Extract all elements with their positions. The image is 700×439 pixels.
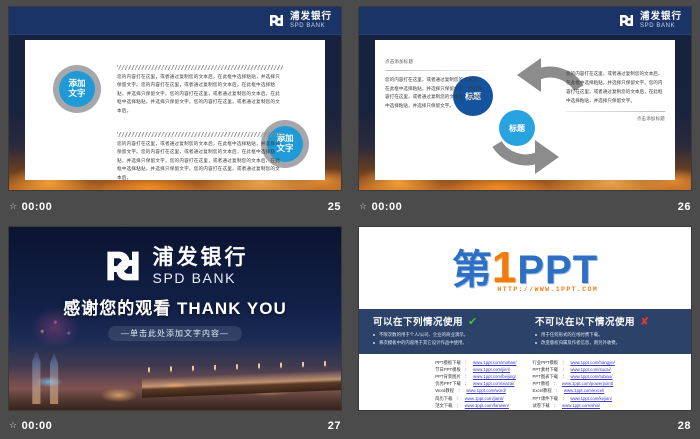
link-url[interactable]: www.1ppt.com/sucai/ xyxy=(570,367,610,374)
subtitle-placeholder[interactable]: —单击此处添加文字内容— xyxy=(108,326,242,341)
list-item[interactable]: Word教程：www.1ppt.com/word/ xyxy=(435,388,516,395)
link-label: PPT背景图片 xyxy=(435,374,461,381)
colon: ： xyxy=(554,410,558,411)
thank-you-slide: 浦发银行 SPD BANK 感谢您的观看 THANK YOU —单击此处添加文字… xyxy=(9,227,341,410)
right-text-column[interactable]: 您的内容打在这里，或者通过复制您的文本后，在此框中选择粘贴，并选择只保留文字。您… xyxy=(566,70,665,123)
slide-header-bar: 浦发银行 SPD BANK xyxy=(359,7,691,35)
colon: ： xyxy=(465,367,469,374)
slide-status-bar-25: ☆ 00:00 25 xyxy=(0,193,350,220)
list-item[interactable]: PPT背景图片：www.1ppt.com/beijing/ xyxy=(435,374,516,381)
slide-number: 28 xyxy=(678,420,691,432)
cycle-circle-light-label: 标题 xyxy=(509,123,525,134)
hatch-divider-top xyxy=(117,65,283,70)
colon: ： xyxy=(456,410,460,411)
star-icon: ☆ xyxy=(9,202,18,211)
slide-status-bar-28: 28 xyxy=(350,412,700,439)
link-url[interactable]: www.1ppt.com/word/ xyxy=(466,388,506,395)
status-left: ☆ 00:00 xyxy=(9,420,52,432)
link-label: PPT模板下载 xyxy=(435,360,461,367)
link-label: 行业PPT模板 xyxy=(533,360,559,367)
link-url[interactable]: www.1ppt.com/fanwen/ xyxy=(465,403,509,410)
colon: ： xyxy=(456,396,460,403)
star-icon: ☆ xyxy=(9,421,18,430)
slide-cell-26[interactable]: 浦发银行 SPD BANK 标题 标题 xyxy=(350,0,700,220)
colon: ： xyxy=(562,367,566,374)
slide-status-bar-26: ☆ 00:00 26 xyxy=(350,193,700,220)
caption-bottom: 点击添加标题 xyxy=(566,115,665,124)
colon: ： xyxy=(562,360,566,367)
divider-top xyxy=(385,70,484,71)
forbidden-list: 用于任何形式的在线付费下载。 改变版权归属及作者信息，则另外收费。 xyxy=(535,331,677,348)
colon: ： xyxy=(458,388,462,395)
list-item[interactable]: PPT教程：www.1ppt.com/powerpoint/ xyxy=(533,381,615,388)
spd-logo-icon xyxy=(268,13,285,28)
brand-name-en: SPD BANK xyxy=(153,271,237,285)
link-url[interactable]: www.1ppt.com/jiaoan/ xyxy=(465,410,507,411)
colon: ： xyxy=(562,396,566,403)
slide-cell-28[interactable]: 第 1 PPT HTTP://WWW.1PPT.COM 可以在下列情况使用 ✔ … xyxy=(350,220,700,439)
spd-bank-logo-large: 浦发银行 SPD BANK xyxy=(9,247,341,285)
star-icon: ☆ xyxy=(359,202,368,211)
forbidden-usage-block: 不可以在以下情况使用 ✘ 用于任何形式的在线付费下载。 改变版权归属及作者信息，… xyxy=(535,314,677,348)
colon: ： xyxy=(562,374,566,381)
thank-you-content: 浦发银行 SPD BANK 感谢您的观看 THANK YOU —单击此处添加文字… xyxy=(9,247,341,341)
slide-28[interactable]: 第 1 PPT HTTP://WWW.1PPT.COM 可以在下列情况使用 ✔ … xyxy=(358,226,692,411)
logo-url: HTTP://WWW.1PPT.COM xyxy=(497,286,598,293)
list-item[interactable]: 教案下载：www.1ppt.com/jiaoan/ xyxy=(435,410,516,411)
link-url[interactable]: www.1ppt.com/ziti/ xyxy=(562,410,598,411)
list-item[interactable]: 范文下载：www.1ppt.com/fanwen/ xyxy=(435,403,516,410)
slide-thumbnail-grid: 浦发银行 SPD BANK 添加 文字 添加 文字 xyxy=(0,0,700,439)
colon: ： xyxy=(556,388,560,395)
link-label: 范文下载 xyxy=(435,403,452,410)
link-url[interactable]: www.1ppt.com/xiazai/ xyxy=(473,381,514,388)
allowed-title: 可以在下列情况使用 xyxy=(373,314,463,328)
list-item: 用于任何形式的在线付费下载。 xyxy=(535,331,677,339)
paragraph-b: 您的内容打在这里，或者通过复制您的文本后，在此框中选择粘贴，并选择只保留文字。您… xyxy=(117,140,283,182)
slide-status-bar-27: ☆ 00:00 27 xyxy=(0,412,350,439)
logo-char-ppt: PPT xyxy=(517,250,598,290)
slide-canvas: 标题 标题 点击添加标题 您的内容打在这里，或者通过复制您的文本后，在此框中选择… xyxy=(375,40,675,180)
slide-25[interactable]: 浦发银行 SPD BANK 添加 文字 添加 文字 xyxy=(8,6,342,191)
allowed-title-row: 可以在下列情况使用 ✔ xyxy=(373,314,515,328)
list-item[interactable]: PPT图表下载：www.1ppt.com/tubiao/ xyxy=(533,374,615,381)
status-left: ☆ 00:00 xyxy=(359,201,402,213)
text-block-b[interactable]: 您的内容打在这里，或者通过复制您的文本后，在此框中选择粘贴，并选择只保留文字。您… xyxy=(117,132,283,182)
list-item: 将次模板中的内容用于其它设计作品中使用。 xyxy=(373,339,515,347)
link-column-right: 行业PPT模板：www.1ppt.com/hangye/ PPT素材下载：www… xyxy=(533,360,615,411)
slide-number: 25 xyxy=(328,201,341,213)
link-url[interactable]: www.1ppt.com/shiti/ xyxy=(562,403,600,410)
list-item: 不限次数的用于个人/公司、企业的商业演示。 xyxy=(373,331,515,339)
spd-logo-text: 浦发银行 SPD BANK xyxy=(153,247,249,285)
link-label: 简历下载 xyxy=(435,396,452,403)
ppt-credits-slide: 第 1 PPT HTTP://WWW.1PPT.COM 可以在下列情况使用 ✔ … xyxy=(359,227,691,410)
link-url[interactable]: www.1ppt.com/powerpoint/ xyxy=(562,381,613,388)
slide-number: 26 xyxy=(678,201,691,213)
list-item[interactable]: 节日PPT模板：www.1ppt.com/jieri/ xyxy=(435,367,516,374)
colon: ： xyxy=(465,374,469,381)
paragraph-a: 您的内容打在这里，或者通过复制您的文本后，在此框中选择粘贴，并选择只保留文字。您… xyxy=(117,73,283,115)
link-url[interactable]: www.1ppt.com/beijing/ xyxy=(473,374,516,381)
logo-char-one: 1 xyxy=(492,246,516,290)
left-text-column[interactable]: 点击添加标题 您的内容打在这里，或者通过复制您的文本后，在此框中选择粘贴，并选择… xyxy=(385,58,484,111)
slide-26[interactable]: 浦发银行 SPD BANK 标题 标题 xyxy=(358,6,692,191)
list-item[interactable]: 字体下载：www.1ppt.com/ziti/ xyxy=(533,410,615,411)
link-label: PPT教程 xyxy=(533,381,550,388)
slide-27[interactable]: 浦发银行 SPD BANK 感谢您的观看 THANK YOU —单击此处添加文字… xyxy=(8,226,342,411)
slide-cell-25[interactable]: 浦发银行 SPD BANK 添加 文字 添加 文字 xyxy=(0,0,350,220)
colon: ： xyxy=(465,360,469,367)
link-label: 优秀PPT下载 xyxy=(435,381,461,388)
left-body-text: 您的内容打在这里，或者通过复制您的文本后，在此框中选择粘贴，并选择只保留文字。您… xyxy=(385,76,484,112)
link-url[interactable]: www.1ppt.com/excel/ xyxy=(564,388,604,395)
link-label: Word教程 xyxy=(435,388,454,395)
list-item[interactable]: 行业PPT模板：www.1ppt.com/hangye/ xyxy=(533,360,615,367)
slide-duration: 00:00 xyxy=(22,201,53,213)
link-label: Excel教程 xyxy=(533,388,552,395)
link-url[interactable]: www.1ppt.com/moban/ xyxy=(473,360,516,367)
colon: ： xyxy=(465,381,469,388)
allowed-list: 不限次数的用于个人/公司、企业的商业演示。 将次模板中的内容用于其它设计作品中使… xyxy=(373,331,515,348)
hatch-divider-bottom xyxy=(117,132,283,137)
brand-name-en: SPD BANK xyxy=(290,23,332,29)
spd-bank-logo: 浦发银行 SPD BANK xyxy=(618,12,682,29)
colon: ： xyxy=(456,403,460,410)
add-text-left-line2: 文字 xyxy=(68,89,85,99)
link-url[interactable]: www.1ppt.com/tubiao/ xyxy=(570,374,612,381)
slide-duration: 00:00 xyxy=(372,201,403,213)
spd-logo-icon xyxy=(618,13,635,28)
check-icon: ✔ xyxy=(468,315,478,328)
list-item[interactable]: 简历下载：www.1ppt.com/jianli/ xyxy=(435,396,516,403)
first-ppt-logo-wrap: 第 1 PPT HTTP://WWW.1PPT.COM xyxy=(452,246,598,290)
list-item[interactable]: PPT素材下载：www.1ppt.com/sucai/ xyxy=(533,367,615,374)
slide-header-bar: 浦发银行 SPD BANK xyxy=(9,7,341,35)
spd-logo-icon xyxy=(102,248,144,284)
right-body-text: 您的内容打在这里，或者通过复制您的文本后，在此框中选择粘贴，并选择只保留文字。您… xyxy=(566,70,665,106)
link-label: PPT课件下载 xyxy=(533,396,559,403)
spd-logo-text: 浦发银行 SPD BANK xyxy=(640,12,682,29)
slide-cell-27[interactable]: 浦发银行 SPD BANK 感谢您的观看 THANK YOU —单击此处添加文字… xyxy=(0,220,350,439)
colon: ： xyxy=(554,403,558,410)
list-item[interactable]: PPT课件下载：www.1ppt.com/kejian/ xyxy=(533,396,615,403)
brand-name-en: SPD BANK xyxy=(640,23,682,29)
slide-canvas: 添加 文字 添加 文字 您的内容打在这里，或者通过复制您的文本后，在此框中选择粘… xyxy=(25,40,325,180)
brand-name-cn: 浦发银行 xyxy=(290,12,332,22)
allowed-usage-block: 可以在下列情况使用 ✔ 不限次数的用于个人/公司、企业的商业演示。 将次模板中的… xyxy=(373,314,515,348)
colon: ： xyxy=(553,381,557,388)
spd-logo-text: 浦发银行 SPD BANK xyxy=(290,12,332,29)
forbidden-title: 不可以在以下情况使用 xyxy=(535,314,635,328)
link-label: PPT素材下载 xyxy=(533,367,559,374)
cross-icon: ✘ xyxy=(640,315,650,328)
link-url[interactable]: www.1ppt.com/jieri/ xyxy=(473,367,510,374)
list-item[interactable]: PPT模板下载：www.1ppt.com/moban/ xyxy=(435,360,516,367)
spd-bank-logo: 浦发银行 SPD BANK xyxy=(268,12,332,29)
link-url[interactable]: www.1ppt.com/jianli/ xyxy=(465,396,504,403)
cycle-circle-light[interactable]: 标题 xyxy=(499,110,535,146)
usage-terms-band: 可以在下列情况使用 ✔ 不限次数的用于个人/公司、企业的商业演示。 将次模板中的… xyxy=(359,309,691,354)
link-label: 试卷下载 xyxy=(533,403,550,410)
link-label: PPT图表下载 xyxy=(533,374,559,381)
divider-bottom xyxy=(566,111,665,112)
text-block-a[interactable]: 您的内容打在这里，或者通过复制您的文本后，在此框中选择粘贴，并选择只保留文字。您… xyxy=(117,65,283,115)
add-text-circle-left[interactable]: 添加 文字 xyxy=(53,65,101,113)
thank-you-heading: 感谢您的观看 THANK YOU xyxy=(9,294,341,319)
list-item[interactable]: 优秀PPT下载：www.1ppt.com/xiazai/ xyxy=(435,381,516,388)
caption-top: 点击添加标题 xyxy=(385,58,484,67)
link-url[interactable]: www.1ppt.com/hangye/ xyxy=(570,360,614,367)
resource-links: PPT模板下载：www.1ppt.com/moban/ 节日PPT模板：www.… xyxy=(359,354,691,411)
slide-duration: 00:00 xyxy=(22,420,53,432)
add-text-circle-left-inner: 添加 文字 xyxy=(59,71,95,107)
list-item[interactable]: Excel教程：www.1ppt.com/excel/ xyxy=(533,388,615,395)
link-label: 字体下载 xyxy=(533,410,550,411)
link-label: 教案下载 xyxy=(435,410,452,411)
brand-name-cn: 浦发银行 xyxy=(153,247,249,268)
link-url[interactable]: www.1ppt.com/kejian/ xyxy=(570,396,612,403)
link-label: 节日PPT模板 xyxy=(435,367,461,374)
brand-name-cn: 浦发银行 xyxy=(640,12,682,22)
list-item[interactable]: 试卷下载：www.1ppt.com/shiti/ xyxy=(533,403,615,410)
first-ppt-logo: 第 1 PPT HTTP://WWW.1PPT.COM xyxy=(359,227,691,309)
slide-number: 27 xyxy=(328,420,341,432)
status-left: ☆ 00:00 xyxy=(9,201,52,213)
list-item: 改变版权归属及作者信息，则另外收费。 xyxy=(535,339,677,347)
logo-char-di: 第 xyxy=(452,250,491,290)
forbidden-title-row: 不可以在以下情况使用 ✘ xyxy=(535,314,677,328)
link-column-left: PPT模板下载：www.1ppt.com/moban/ 节日PPT模板：www.… xyxy=(435,360,516,411)
